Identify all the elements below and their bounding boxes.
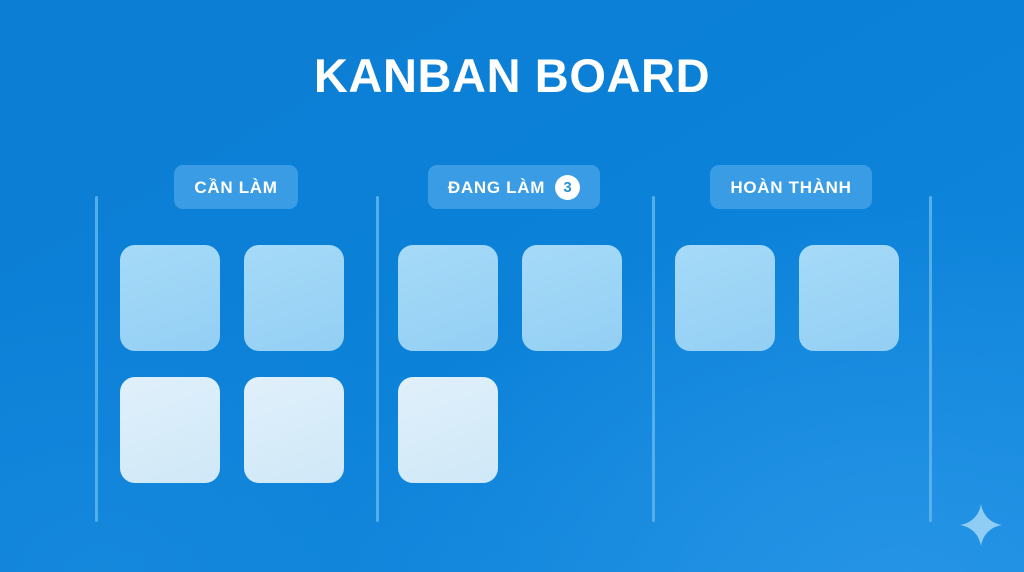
kanban-card[interactable] bbox=[120, 245, 220, 351]
column-divider-rail-3 bbox=[652, 196, 655, 522]
kanban-column-todo: CẦN LÀM bbox=[120, 165, 352, 483]
sparkle-icon bbox=[959, 503, 1003, 547]
column-divider-rail-1 bbox=[95, 196, 98, 522]
kanban-card[interactable] bbox=[398, 245, 498, 351]
kanban-board: KANBAN BOARD CẦN LÀM ĐANG LÀM 3 HOÀ bbox=[0, 0, 1024, 572]
column-header-done[interactable]: HOÀN THÀNH bbox=[710, 165, 871, 209]
kanban-column-doing: ĐANG LÀM 3 bbox=[398, 165, 630, 483]
kanban-card[interactable] bbox=[120, 377, 220, 483]
column-header-todo[interactable]: CẦN LÀM bbox=[174, 165, 297, 209]
card-list-done bbox=[675, 245, 907, 351]
card-list-todo bbox=[120, 245, 352, 483]
kanban-card[interactable] bbox=[244, 377, 344, 483]
column-header-label: HOÀN THÀNH bbox=[730, 179, 851, 196]
kanban-card[interactable] bbox=[398, 377, 498, 483]
kanban-column-done: HOÀN THÀNH bbox=[675, 165, 907, 351]
kanban-card[interactable] bbox=[522, 245, 622, 351]
kanban-card[interactable] bbox=[799, 245, 899, 351]
kanban-card[interactable] bbox=[244, 245, 344, 351]
page-title: KANBAN BOARD bbox=[0, 52, 1024, 99]
column-divider-rail-2 bbox=[376, 196, 379, 522]
column-divider-rail-4 bbox=[929, 196, 932, 522]
card-empty-slot bbox=[522, 377, 622, 483]
card-list-doing bbox=[398, 245, 630, 483]
status-badge: 3 bbox=[555, 175, 580, 200]
column-header-label: CẦN LÀM bbox=[194, 179, 277, 196]
kanban-card[interactable] bbox=[675, 245, 775, 351]
column-header-label: ĐANG LÀM bbox=[448, 179, 545, 196]
column-header-doing[interactable]: ĐANG LÀM 3 bbox=[428, 165, 600, 209]
